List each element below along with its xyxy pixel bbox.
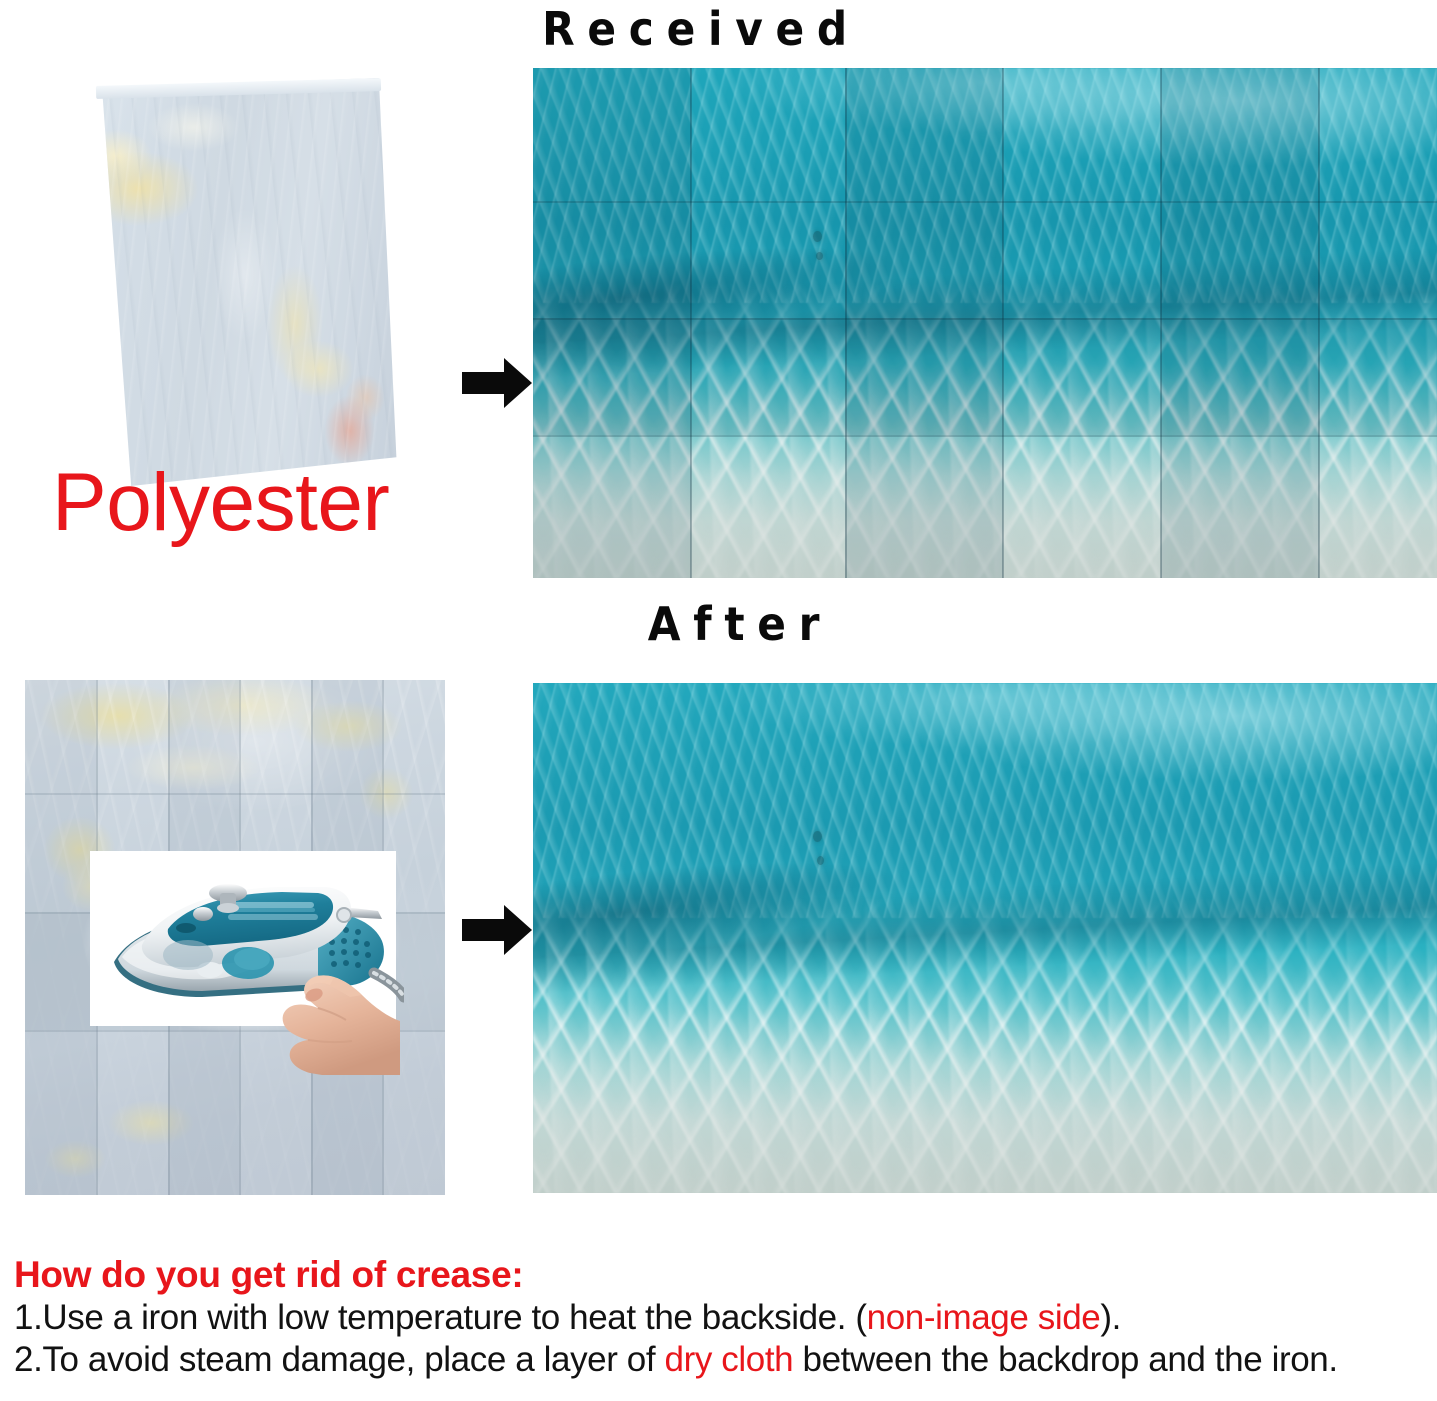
instruction-sheet: Received Polyester	[0, 0, 1437, 1401]
arrow-shaft	[462, 919, 506, 941]
instruction-line-1-highlight: non-image side	[867, 1298, 1101, 1337]
arrow-shaft	[462, 372, 506, 394]
sea-sand-tone	[533, 384, 1437, 578]
instruction-line-2: 2.To avoid steam damage, place a layer o…	[14, 1339, 1434, 1382]
after-backdrop-photo	[533, 683, 1437, 1193]
instruction-line-1-text-b: ).	[1100, 1298, 1121, 1337]
sea-sand-tone	[533, 999, 1437, 1193]
care-instructions: How do you get rid of crease: 1.Use a ir…	[14, 1253, 1434, 1382]
instruction-line-1: 1.Use a iron with low temperature to hea…	[14, 1297, 1434, 1340]
arrow-head	[504, 358, 532, 408]
received-section-title: Received	[485, 6, 917, 52]
folded-fabric-swatch	[22, 78, 412, 488]
instruction-line-2-text-a: 2.To avoid steam damage, place a layer o…	[14, 1340, 665, 1379]
after-section-title: After	[597, 601, 882, 647]
iron-photo-card	[90, 851, 396, 1026]
instruction-line-2-text-b: between the backdrop and the iron.	[793, 1340, 1337, 1379]
water-bubble	[816, 252, 823, 260]
instruction-line-2-highlight: dry cloth	[665, 1340, 794, 1379]
instruction-line-1-text-a: 1.Use a iron with low temperature to hea…	[14, 1298, 867, 1337]
steam-iron-illustration	[82, 845, 404, 1075]
arrow-head	[504, 905, 532, 955]
received-backdrop-photo	[533, 68, 1437, 578]
polyester-material-label: Polyester	[52, 462, 389, 544]
folded-fabric-texture	[22, 78, 412, 488]
instructions-heading: How do you get rid of crease:	[14, 1253, 1434, 1297]
